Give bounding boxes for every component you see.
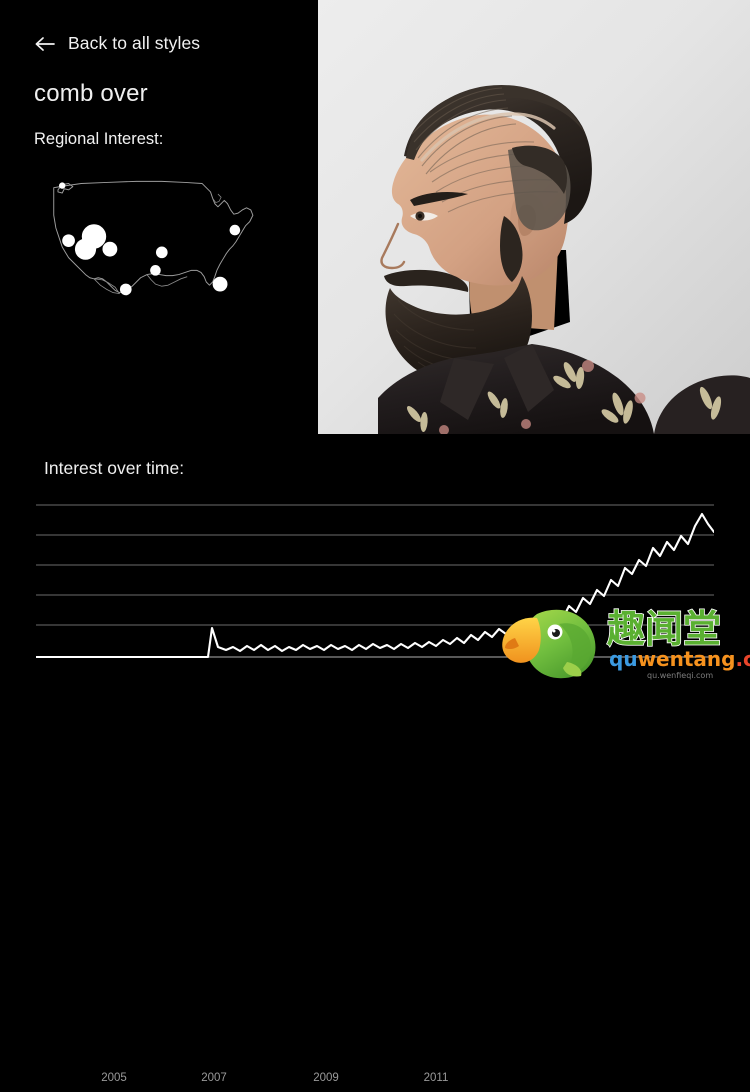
map-bubble[interactable] bbox=[213, 277, 228, 292]
info-pane: Back to all styles comb over Regional In… bbox=[0, 0, 318, 440]
x-tick-label: 2007 bbox=[201, 1072, 227, 1084]
top-section: Back to all styles comb over Regional In… bbox=[0, 0, 750, 440]
map-bubble[interactable] bbox=[102, 242, 117, 257]
interest-line-chart[interactable] bbox=[36, 502, 714, 668]
map-bubble[interactable] bbox=[62, 234, 75, 247]
app-screen: Back to all styles comb over Regional In… bbox=[0, 0, 750, 681]
us-map-svg bbox=[44, 175, 269, 300]
map-bubble[interactable] bbox=[156, 247, 168, 259]
page-title: comb over bbox=[34, 80, 148, 108]
line-chart-svg bbox=[36, 502, 714, 668]
back-to-all-styles-button[interactable]: Back to all styles bbox=[34, 33, 200, 54]
x-tick-label: 2005 bbox=[101, 1072, 127, 1084]
chart-title: Interest over time: bbox=[44, 458, 184, 479]
hairstyle-photo bbox=[318, 0, 750, 434]
back-label: Back to all styles bbox=[68, 33, 200, 54]
arrow-left-icon bbox=[34, 34, 56, 54]
regional-interest-label: Regional Interest: bbox=[34, 130, 163, 149]
chart-gridlines bbox=[36, 505, 714, 625]
map-bubble[interactable] bbox=[75, 239, 96, 260]
map-bubble[interactable] bbox=[150, 265, 161, 276]
x-tick-label: 2009 bbox=[313, 1072, 339, 1084]
chart-x-axis: 2005 2007 2009 2011 bbox=[36, 1072, 714, 1092]
map-bubble[interactable] bbox=[59, 182, 65, 188]
hairstyle-photo-illustration bbox=[318, 0, 750, 434]
regional-interest-map[interactable] bbox=[44, 175, 269, 300]
x-tick-label: 2011 bbox=[424, 1072, 449, 1084]
map-bubble[interactable] bbox=[230, 225, 241, 236]
pupil bbox=[418, 214, 422, 218]
interest-over-time-section: Interest over time: 2005 2007 2009 2011 bbox=[0, 440, 750, 681]
map-bubble[interactable] bbox=[120, 284, 132, 296]
